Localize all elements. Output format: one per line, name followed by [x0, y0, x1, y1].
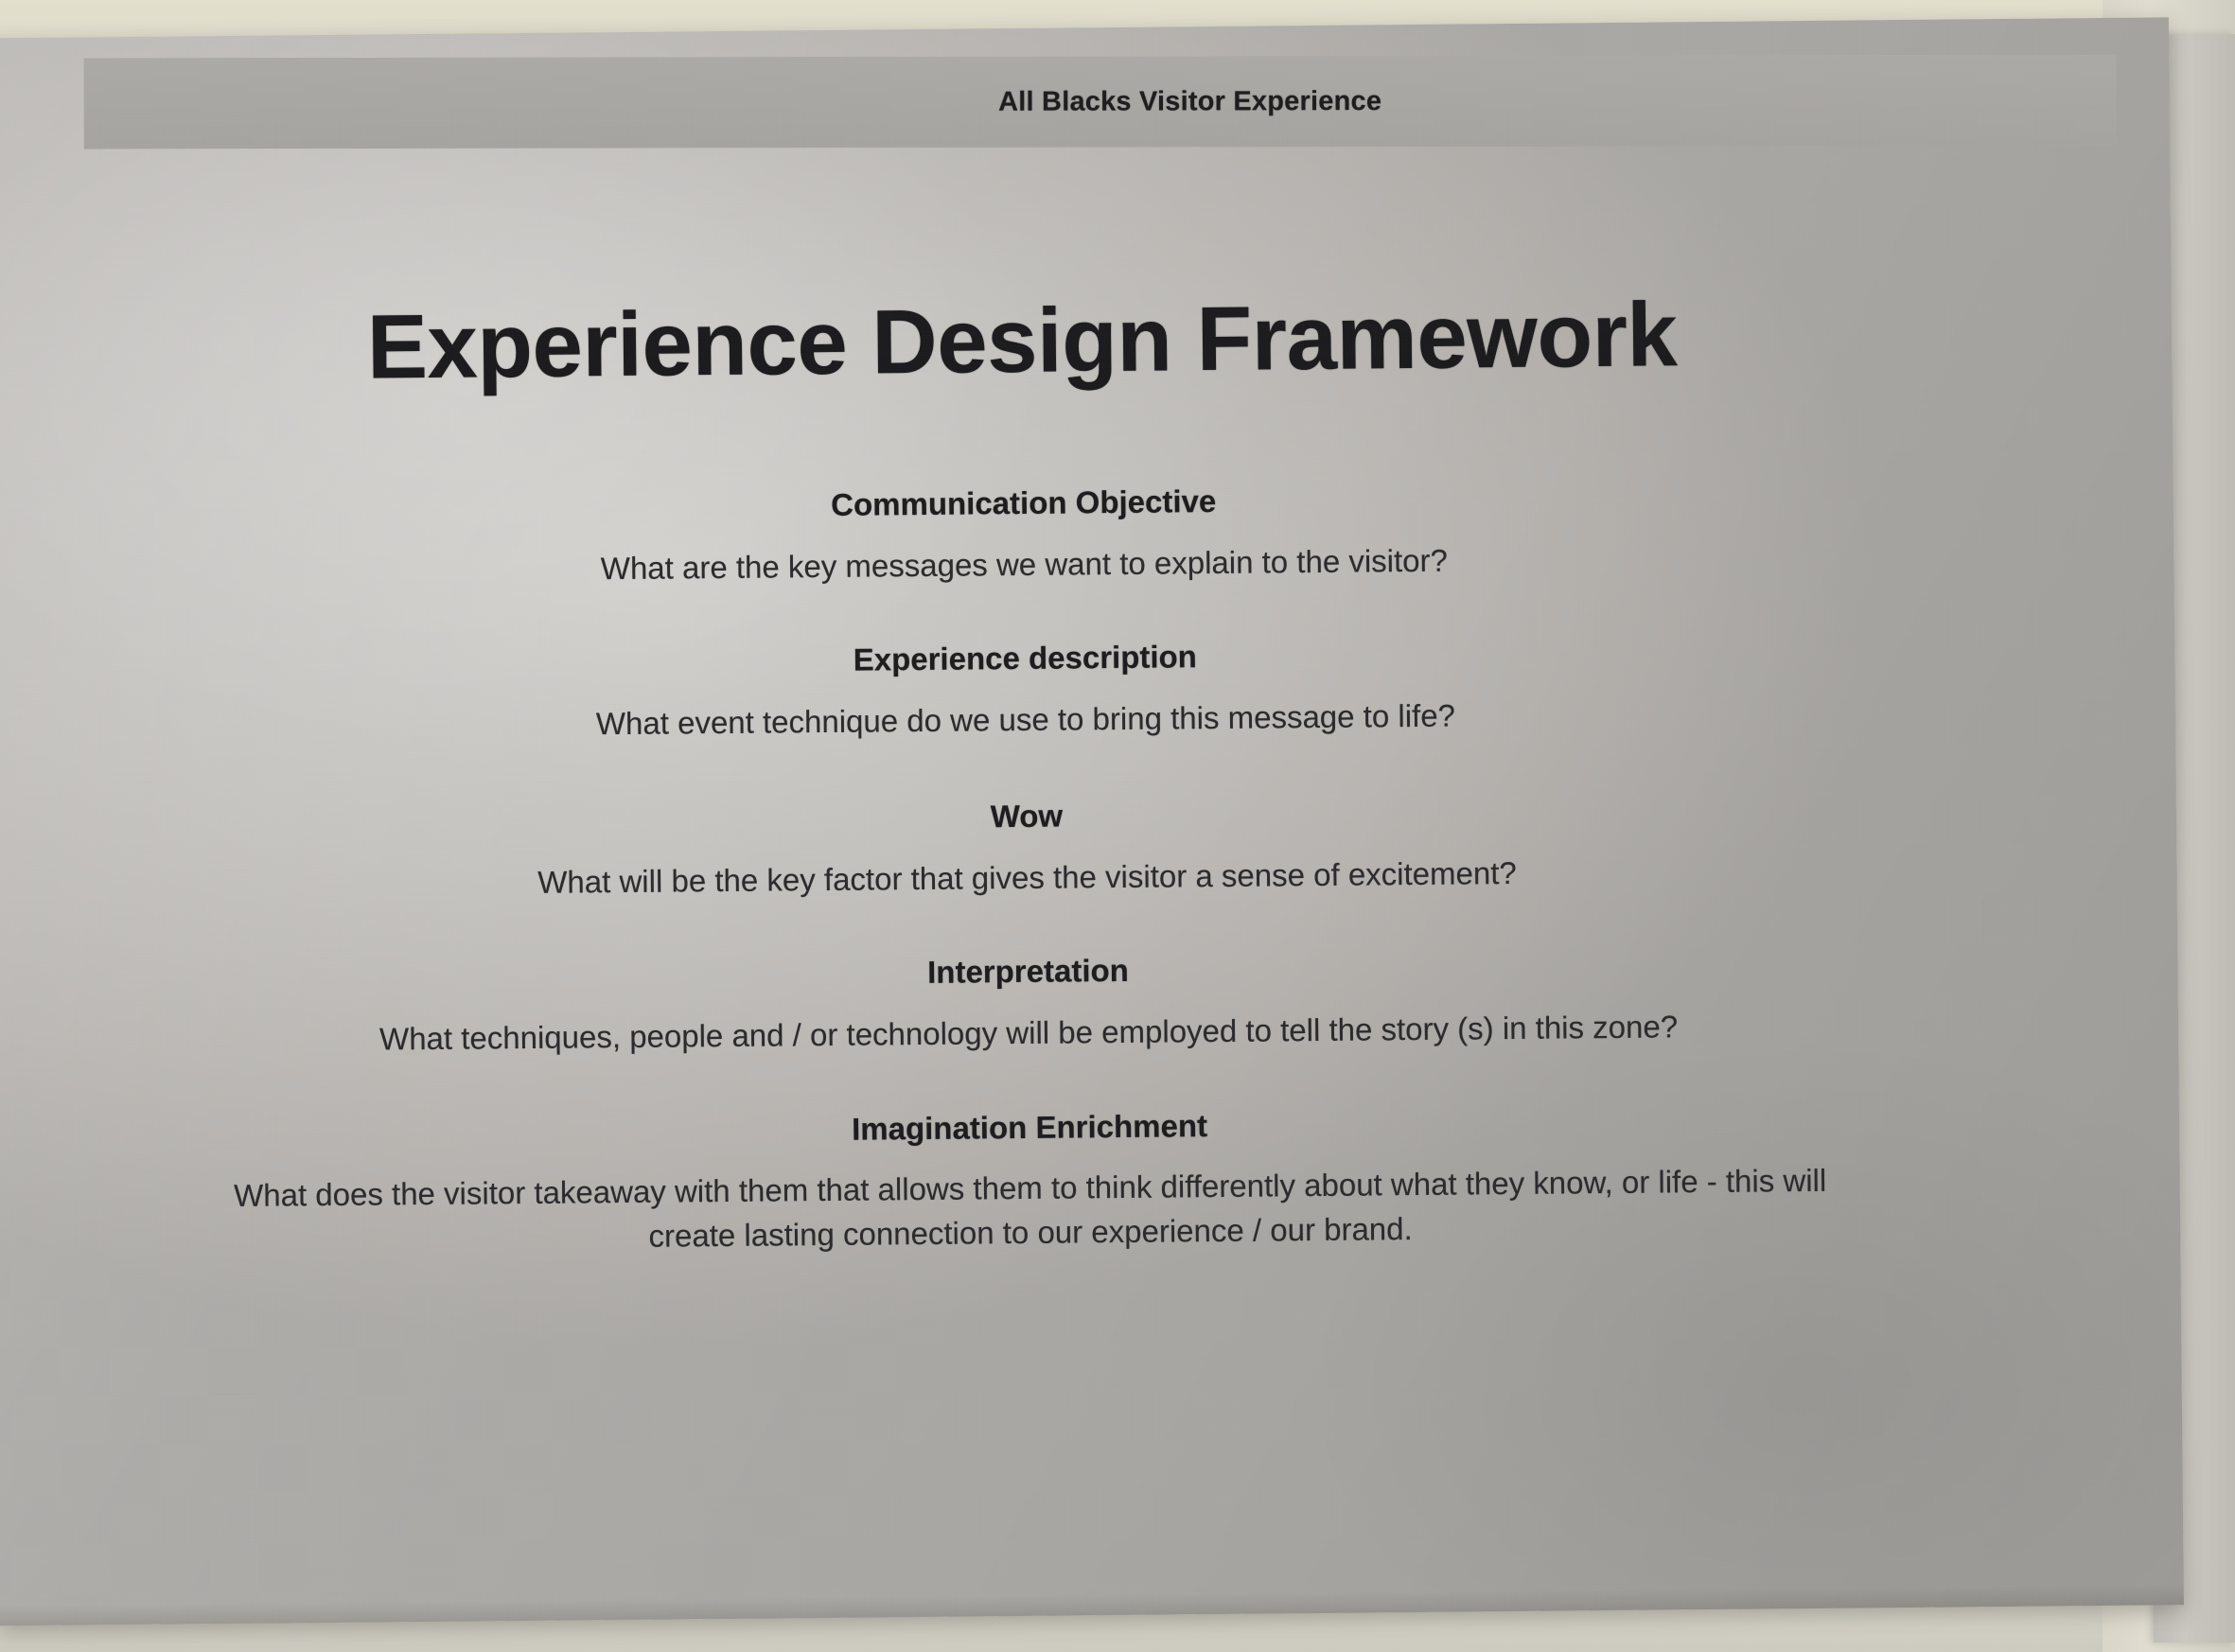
section-body: What event technique do we use to bring …	[221, 691, 1830, 750]
section-interpretation: Interpretation What techniques, people a…	[0, 943, 2065, 1065]
header-band: All Blacks Visitor Experience	[84, 55, 2117, 149]
section-wow: Wow What will be the key factor that giv…	[0, 787, 2064, 909]
photo-of-printed-page: All Blacks Visitor Experience Experience…	[0, 0, 2235, 1652]
section-heading: Imagination Enrichment	[0, 1098, 2066, 1156]
section-experience-description: Experience description What event techni…	[0, 630, 2062, 752]
section-body: What are the key messages we want to exp…	[220, 535, 1828, 594]
printed-page: All Blacks Visitor Experience Experience…	[0, 17, 2184, 1626]
page-title: Experience Design Framework	[0, 278, 2173, 403]
section-body: What techniques, people and / or technol…	[196, 1003, 1861, 1063]
section-heading: Experience description	[0, 630, 2061, 688]
section-heading: Wow	[0, 787, 2063, 845]
page-content: All Blacks Visitor Experience Experience…	[0, 17, 2184, 1626]
section-body: What does the visitor takeaway with them…	[198, 1159, 1864, 1264]
section-body: What will be the key factor that gives t…	[222, 848, 1831, 907]
section-communication-objective: Communication Objective What are the key…	[0, 474, 2061, 596]
section-heading: Communication Objective	[0, 474, 2060, 532]
framework-sections: Communication Objective What are the key…	[0, 473, 2180, 1265]
section-imagination-enrichment: Imagination Enrichment What does the vis…	[0, 1098, 2067, 1265]
section-heading: Interpretation	[0, 943, 2065, 1001]
header-band-label: All Blacks Visitor Experience	[998, 86, 1381, 118]
